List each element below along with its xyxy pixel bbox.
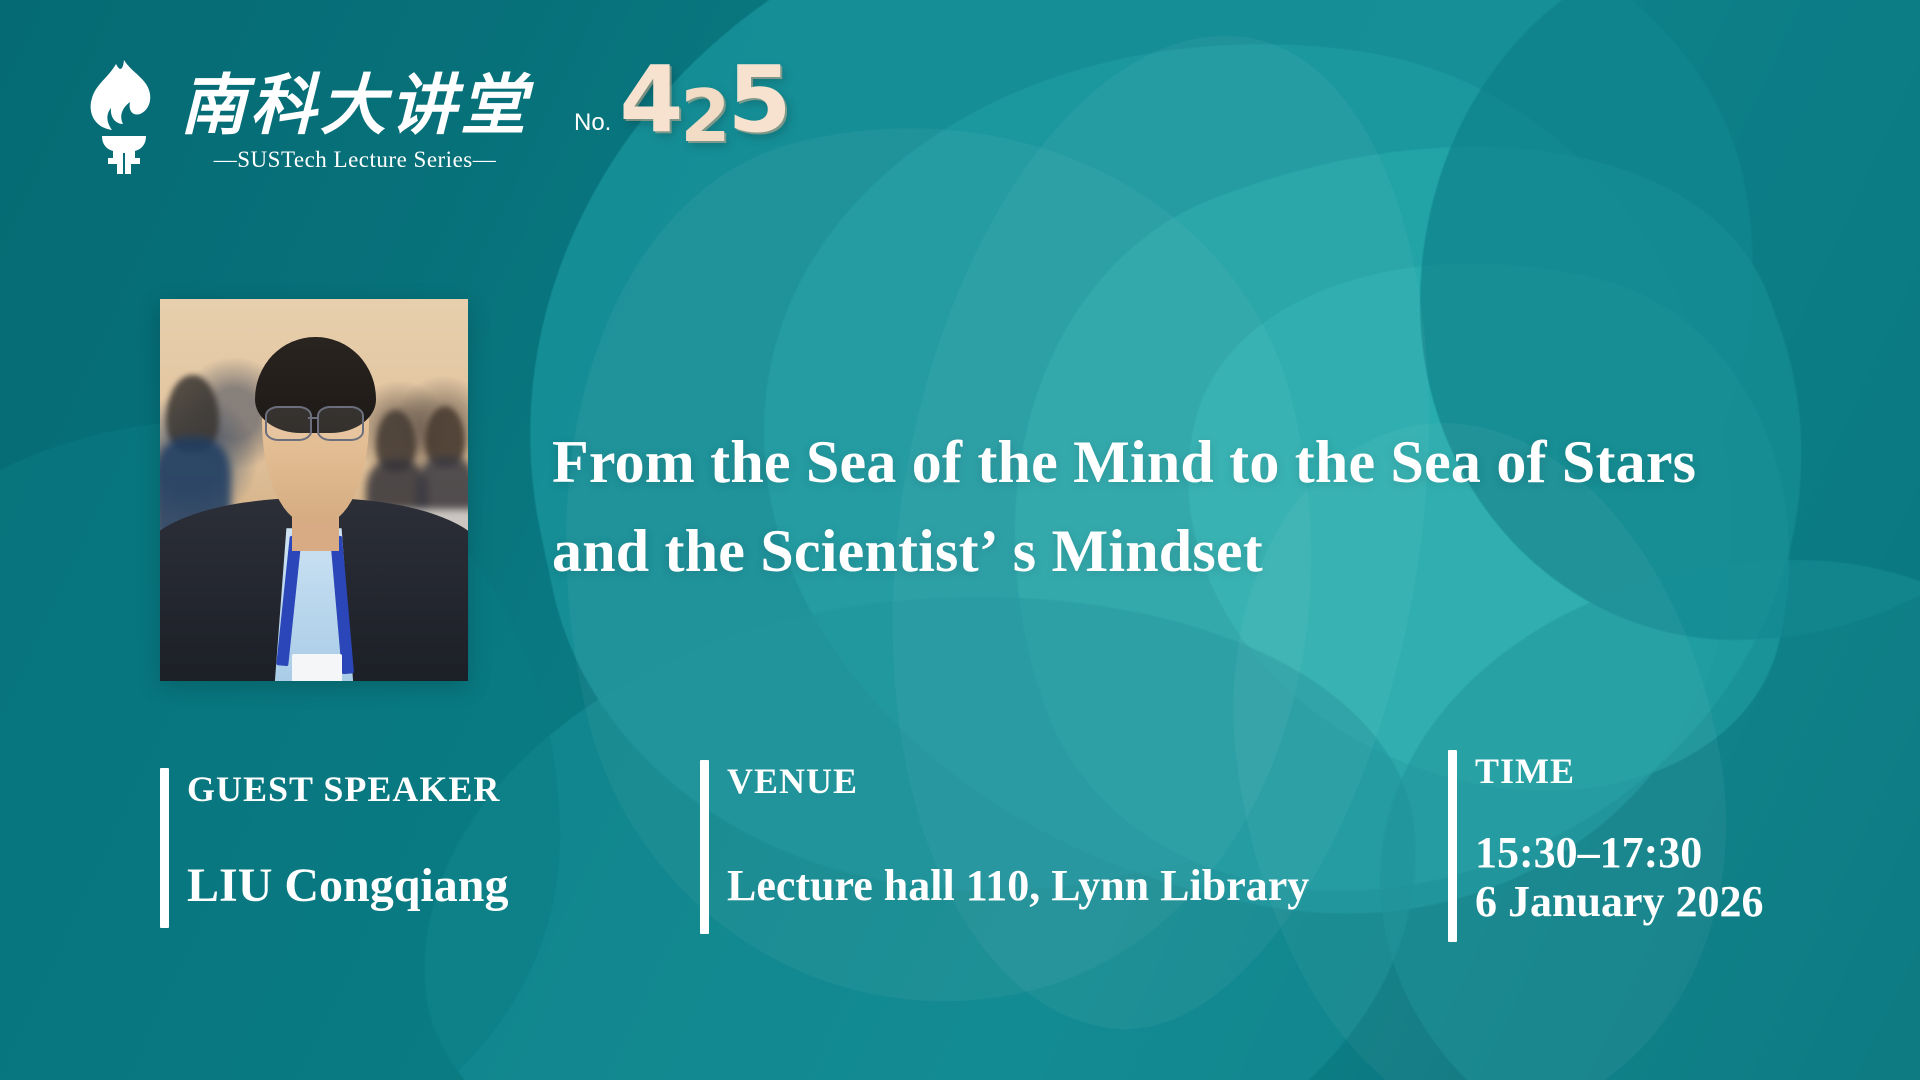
- venue-block: VENUE Lecture hall 110, Lynn Library: [700, 760, 1309, 934]
- time-label: TIME: [1475, 750, 1763, 792]
- accent-bar: [700, 760, 709, 934]
- venue-body: VENUE Lecture hall 110, Lynn Library: [727, 760, 1309, 934]
- lecture-title-line-2: and the Scientist’s Mindset: [552, 507, 1852, 596]
- issue-number: 425: [619, 58, 788, 143]
- speaker-badge: [292, 654, 341, 681]
- glasses-icon: [265, 406, 312, 441]
- poster-header: 南科大讲堂 —SUSTech Lecture Series— No. 425: [78, 58, 789, 176]
- guest-speaker-body: GUEST SPEAKER LIU Congqiang: [187, 768, 508, 928]
- accent-bar: [1448, 750, 1457, 942]
- date-value: 6 January 2026: [1475, 877, 1763, 926]
- issue-digit-2: 2: [680, 83, 727, 149]
- logo-title-cn: 南科大讲堂: [180, 72, 530, 138]
- issue-digit-1: 4: [619, 46, 680, 153]
- lecture-title-line-2-post: s Mindset: [1013, 518, 1263, 584]
- accent-bar: [160, 768, 169, 928]
- lecture-poster: 南科大讲堂 —SUSTech Lecture Series— No. 425: [0, 0, 1920, 1080]
- time-body: TIME 15:30–17:30 6 January 2026: [1475, 750, 1763, 942]
- guest-speaker-name: LIU Congqiang: [187, 858, 508, 913]
- lecture-title-apostrophe: ’: [979, 518, 1013, 584]
- logo-wordmark: 南科大讲堂 —SUSTech Lecture Series—: [180, 58, 530, 173]
- glasses-bridge: [308, 417, 317, 419]
- guest-speaker-label: GUEST SPEAKER: [187, 768, 508, 810]
- torch-flame-icon: [78, 58, 170, 176]
- guest-speaker-block: GUEST SPEAKER LIU Congqiang: [160, 768, 508, 928]
- speaker-photo-image: [160, 299, 468, 681]
- issue-number-group: No. 425: [574, 58, 789, 147]
- issue-digit-3: 5: [727, 46, 788, 153]
- speaker-photo: [160, 299, 468, 681]
- venue-label: VENUE: [727, 760, 1309, 802]
- lecture-title-line-1: From the Sea of the Mind to the Sea of S…: [552, 418, 1852, 507]
- lecture-title-line-2-pre: and the Scientist: [552, 518, 979, 584]
- venue-value: Lecture hall 110, Lynn Library: [727, 860, 1309, 911]
- lecture-title: From the Sea of the Mind to the Sea of S…: [552, 418, 1852, 596]
- time-value: 15:30–17:30: [1475, 828, 1763, 877]
- glasses-icon: [317, 406, 364, 441]
- issue-label: No.: [574, 109, 611, 143]
- logo-subtitle-en: —SUSTech Lecture Series—: [180, 147, 530, 173]
- time-block: TIME 15:30–17:30 6 January 2026: [1448, 750, 1763, 942]
